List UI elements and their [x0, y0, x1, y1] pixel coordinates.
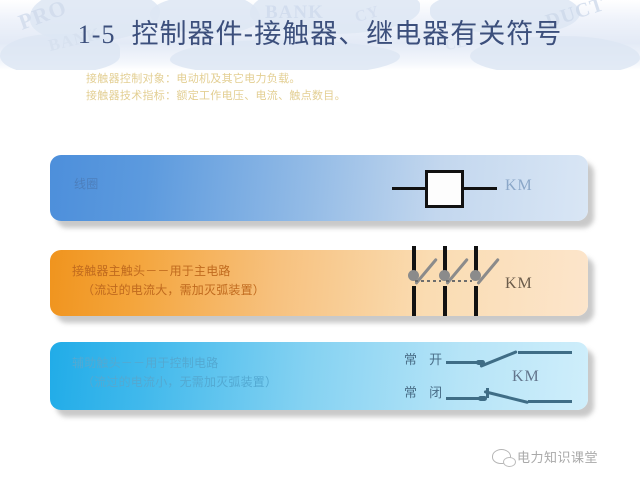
row-aux-contacts-designator: KM	[512, 368, 540, 386]
subtitle-line-1: 接触器控制对象：电动机及其它电力负载。	[86, 70, 506, 87]
row-main-contacts-label-line1: 接触器主触头－－用于主电路	[72, 264, 231, 278]
footer-logo-text: 电力知识课堂	[517, 447, 598, 466]
row-coil-designator: KM	[505, 177, 533, 195]
slide-root: PRO BANK BANK CY DUCT CL 1-5控制器件-接触器、继电器…	[0, 0, 640, 480]
normally-open-label: 常 开	[404, 349, 446, 368]
coil-wire-right	[464, 187, 497, 190]
row-coil-label-line1: 线圈	[74, 177, 98, 191]
row-main-contacts-designator: KM	[505, 275, 533, 293]
main-contact-link-2	[446, 280, 472, 282]
row-aux-contacts-label: 辅助触头－－用于控制电路 （流过的电流小，无需加灭弧装置）	[72, 354, 277, 392]
main-contact-link-1	[415, 280, 441, 282]
page-title: 1-5控制器件-接触器、继电器有关符号	[0, 18, 640, 52]
nc-contact-arm	[484, 390, 529, 404]
three-phase-main-contacts-symbol	[398, 246, 498, 320]
normally-closed-label: 常 闭	[404, 382, 446, 401]
coil-symbol	[392, 160, 497, 216]
subtitle-block: 接触器控制对象：电动机及其它电力负载。 接触器技术指标：额定工作电压、电流、触点…	[86, 70, 506, 104]
row-aux-contacts-label-line1: 辅助触头－－用于控制电路	[72, 356, 218, 370]
normally-open-contact-symbol	[446, 352, 572, 374]
no-contact-right-lead	[518, 351, 572, 354]
coil-wire-left	[392, 187, 425, 190]
main-contact-pole-1-bottom	[412, 286, 416, 316]
row-coil-label: 线圈	[74, 175, 98, 194]
coil-body-icon	[425, 170, 464, 208]
subtitle-line-2: 接触器技术指标：额定工作电压、电流、触点数目。	[86, 87, 506, 104]
wechat-icon	[492, 449, 511, 464]
main-contact-pole-2-bottom	[443, 286, 447, 316]
nc-contact-right-lead	[528, 400, 572, 403]
row-aux-contacts-label-line2: （流过的电流小，无需加灭弧装置）	[72, 373, 277, 392]
page-title-number: 1-5	[78, 20, 132, 49]
main-contact-pole-3-bottom	[474, 286, 478, 316]
page-title-text: 控制器件-接触器、继电器有关符号	[131, 19, 562, 50]
footer-logo: 电力知识课堂	[492, 445, 598, 467]
row-main-contacts-label-line2: （流过的电流大，需加灭弧装置）	[72, 281, 265, 300]
normally-closed-contact-symbol	[446, 386, 572, 408]
no-contact-arm	[479, 350, 517, 368]
row-main-contacts-label: 接触器主触头－－用于主电路 （流过的电流大，需加灭弧装置）	[72, 262, 265, 300]
